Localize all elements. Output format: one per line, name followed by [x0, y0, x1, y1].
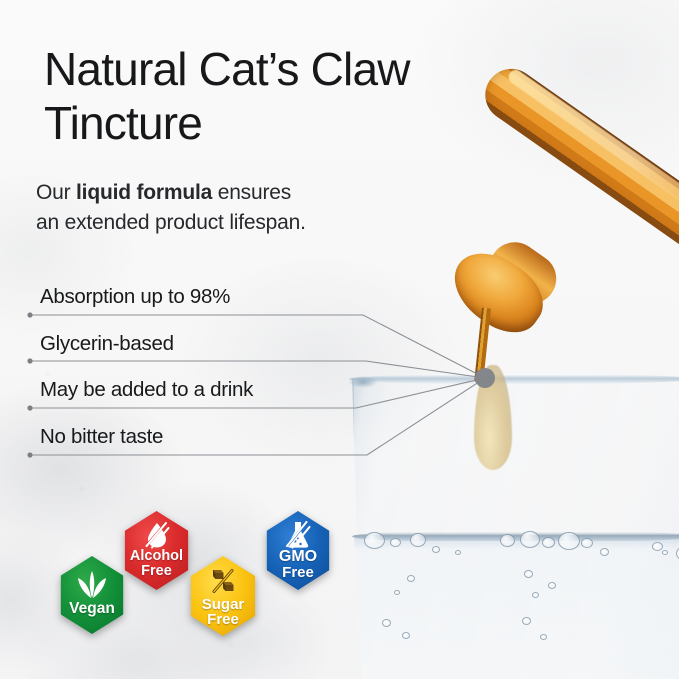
badge-gmo-free[interactable]: GMO Free	[262, 511, 334, 590]
certification-badges: Vegan Alcohol Free	[0, 0, 360, 679]
badge-vegan-label: Vegan	[56, 601, 128, 617]
badge-sugar-free[interactable]: Sugar Free	[186, 556, 260, 636]
badge-alcohol-label-line2: Free	[120, 564, 193, 579]
callout-convergence-dot	[475, 368, 495, 388]
badge-alcohol-label-line1: Alcohol	[120, 549, 193, 564]
product-infographic: Natural Cat’s Claw Tincture Our liquid f…	[0, 0, 679, 679]
badge-gmo-label-line2: Free	[262, 565, 334, 581]
badge-vegan[interactable]: Vegan	[56, 556, 128, 634]
badge-sugar-label-line2: Free	[186, 612, 260, 628]
sugar-cubes-slash-icon	[186, 568, 260, 599]
leaf-icon	[56, 569, 128, 604]
badge-alcohol-free[interactable]: Alcohol Free	[120, 511, 193, 590]
